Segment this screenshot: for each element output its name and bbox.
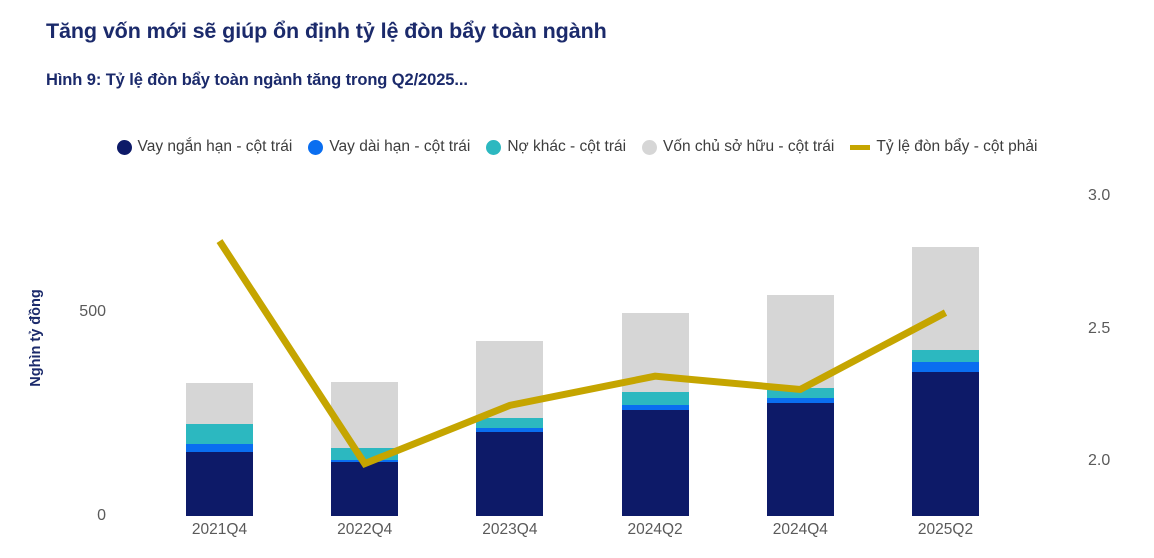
x-axis-tick-label: 2022Q4 — [337, 521, 392, 539]
legend-item-label: Nợ khác - cột trái — [507, 138, 626, 156]
bar-segment — [476, 432, 543, 516]
bar-segment — [767, 295, 834, 388]
bar-segment — [186, 444, 253, 452]
y-axis-title: Nghìn tỷ đồng — [28, 268, 44, 408]
x-axis-tick-label: 2023Q4 — [482, 521, 537, 539]
bar-segment — [912, 362, 979, 372]
legend-item-label: Vay dài hạn - cột trái — [329, 138, 470, 156]
legend-item-label: Tỷ lệ đòn bẩy - cột phải — [876, 138, 1037, 156]
y-axis-right-tick-label: 2.0 — [1088, 452, 1110, 470]
bar-segment — [331, 462, 398, 516]
x-axis-tick-label: 2024Q4 — [773, 521, 828, 539]
y-axis-right-tick-label: 2.5 — [1088, 320, 1110, 338]
bar-segment — [476, 418, 543, 428]
bar-segment — [331, 382, 398, 449]
legend-dot-icon — [308, 140, 323, 155]
bar-segment — [331, 460, 398, 462]
bar-segment — [186, 452, 253, 516]
legend-equity[interactable]: Vốn chủ sở hữu - cột trái — [642, 138, 834, 156]
page-title: Tăng vốn mới sẽ giúp ổn định tỷ lệ đòn b… — [46, 19, 607, 44]
bar-segment — [767, 388, 834, 398]
bar-segment — [622, 405, 689, 410]
bar-segment — [331, 448, 398, 460]
x-axis-tick-label: 2021Q4 — [192, 521, 247, 539]
x-axis-tick-label: 2025Q2 — [918, 521, 973, 539]
bar-segment — [912, 247, 979, 350]
bar-segment — [476, 428, 543, 432]
legend-line-icon — [850, 145, 870, 150]
bar-segment — [767, 398, 834, 403]
legend-dot-icon — [642, 140, 657, 155]
y-axis-left-tick-label: 500 — [79, 303, 106, 321]
bar-segment — [622, 392, 689, 405]
legend-item-label: Vốn chủ sở hữu - cột trái — [663, 138, 834, 156]
bar-segment — [622, 313, 689, 393]
chart-legend: Vay ngắn hạn - cột tráiVay dài hạn - cột… — [0, 138, 1154, 156]
legend-short-term-debt[interactable]: Vay ngắn hạn - cột trái — [117, 138, 293, 156]
bar-segment — [912, 372, 979, 516]
legend-dot-icon — [117, 140, 132, 155]
bar-segment — [622, 410, 689, 516]
legend-other-debt[interactable]: Nợ khác - cột trái — [486, 138, 626, 156]
bar-segment — [476, 341, 543, 418]
chart-page: Tăng vốn mới sẽ giúp ổn định tỷ lệ đòn b… — [0, 0, 1154, 558]
legend-leverage-ratio[interactable]: Tỷ lệ đòn bẩy - cột phải — [850, 138, 1037, 156]
bar-segment — [186, 383, 253, 424]
bar-segment — [767, 403, 834, 516]
legend-long-term-debt[interactable]: Vay dài hạn - cột trái — [308, 138, 470, 156]
figure-subtitle: Hình 9: Tỷ lệ đòn bẩy toàn ngành tăng tr… — [46, 71, 468, 90]
leverage-ratio-line — [220, 241, 946, 464]
bar-segment — [186, 424, 253, 444]
y-axis-right-tick-label: 3.0 — [1088, 187, 1110, 205]
y-axis-right-ticks: 2.02.53.0 — [1088, 0, 1148, 558]
x-axis-tick-label: 2024Q2 — [628, 521, 683, 539]
bar-segment — [912, 350, 979, 362]
legend-item-label: Vay ngắn hạn - cột trái — [138, 138, 293, 156]
legend-dot-icon — [486, 140, 501, 155]
y-axis-left-tick-label: 0 — [97, 507, 106, 525]
